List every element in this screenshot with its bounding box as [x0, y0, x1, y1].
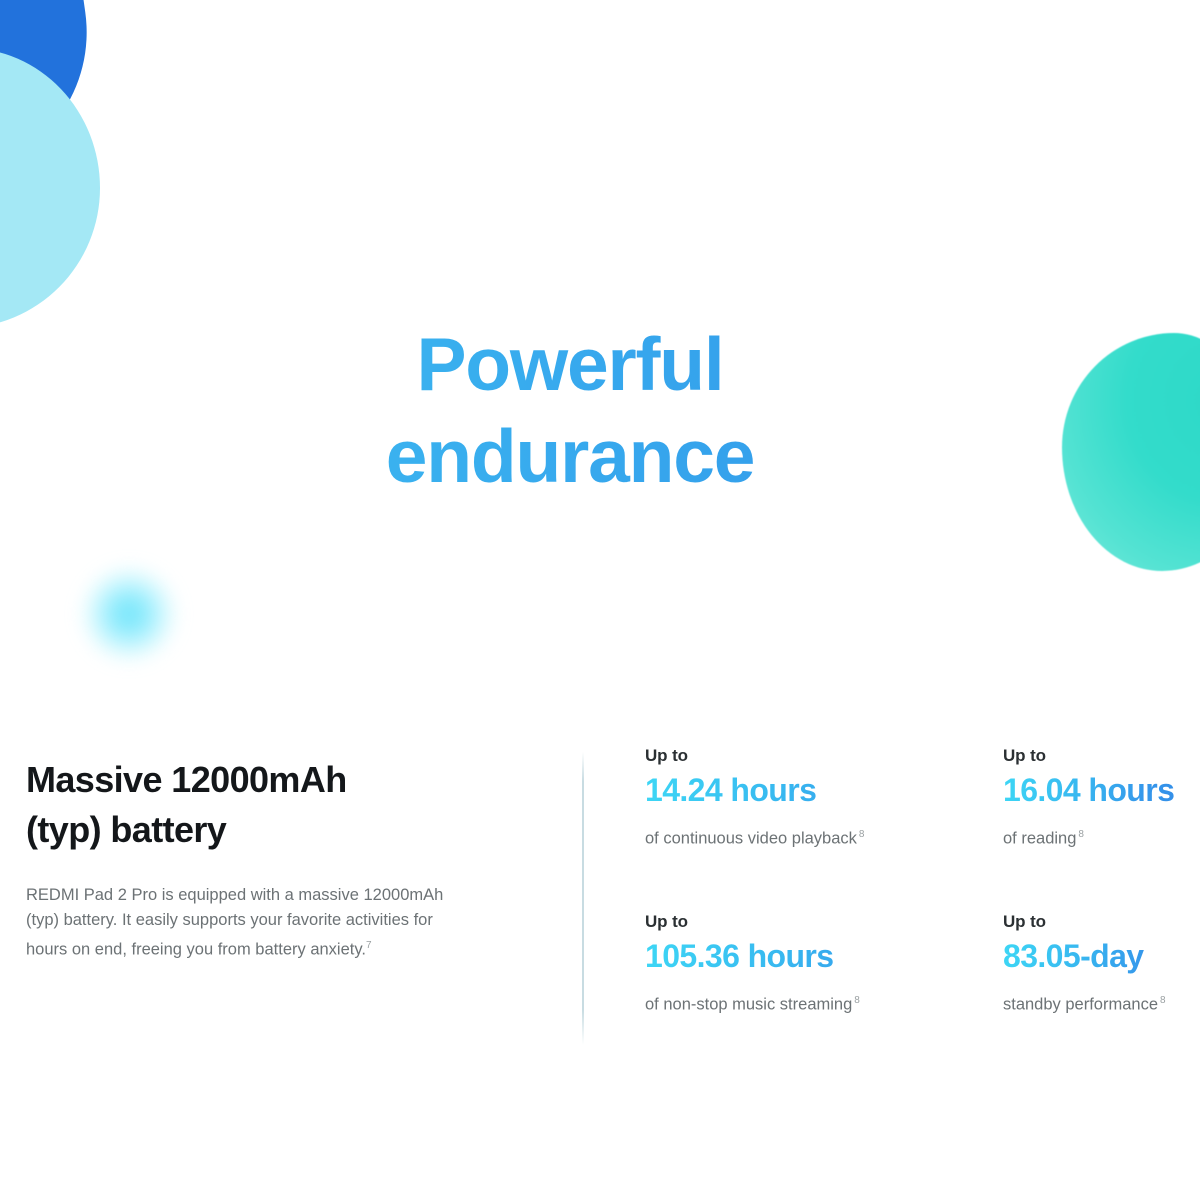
feature-body-text: REDMI Pad 2 Pro is equipped with a massi… — [26, 883, 476, 963]
content-area: Massive 12000mAh (typ) battery REDMI Pad… — [0, 745, 1200, 1065]
stat-uplabel: Up to — [645, 911, 1003, 933]
feature-body-footnote-marker: 7 — [366, 940, 372, 951]
stat-value: 83.05-day — [1003, 936, 1200, 977]
vertical-divider — [582, 752, 584, 1045]
stat-value: 14.24 hours — [645, 770, 1003, 811]
hero-title: Powerful endurance — [0, 318, 1140, 502]
stat-card-standby: Up to 83.05-day standby performance8 — [1003, 911, 1200, 1016]
stat-uplabel: Up to — [645, 745, 1003, 767]
stat-description: of reading8 — [1003, 824, 1200, 850]
hero-title-line-2: endurance — [0, 410, 1140, 502]
stat-uplabel: Up to — [1003, 911, 1200, 933]
feature-headline-line-2: (typ) battery — [26, 809, 226, 850]
blue-wedge-shape — [0, 0, 105, 187]
cyan-glow-spot — [83, 568, 175, 660]
stat-card-music-streaming: Up to 105.36 hours of non-stop music str… — [645, 911, 1003, 1016]
stat-description-text: of continuous video playback — [645, 830, 857, 848]
stat-footnote-marker: 8 — [854, 995, 860, 1006]
stat-card-reading: Up to 16.04 hours of reading8 — [1003, 745, 1200, 911]
feature-headline: Massive 12000mAh (typ) battery — [26, 755, 496, 855]
stat-description-text: standby performance — [1003, 996, 1158, 1014]
stat-description: of non-stop music streaming8 — [645, 990, 1003, 1016]
stat-card-video-playback: Up to 14.24 hours of continuous video pl… — [645, 745, 1003, 911]
feature-body-copy: REDMI Pad 2 Pro is equipped with a massi… — [26, 886, 443, 959]
stat-description: standby performance8 — [1003, 990, 1200, 1016]
stat-footnote-marker: 8 — [859, 829, 865, 840]
hero-title-line-1: Powerful — [0, 318, 1140, 410]
stat-description: of continuous video playback8 — [645, 824, 1003, 850]
stat-value: 105.36 hours — [645, 936, 1003, 977]
stat-uplabel: Up to — [1003, 745, 1200, 767]
stat-footnote-marker: 8 — [1160, 995, 1166, 1006]
feature-description-column: Massive 12000mAh (typ) battery REDMI Pad… — [26, 755, 496, 963]
stat-description-text: of reading — [1003, 830, 1076, 848]
stats-grid: Up to 14.24 hours of continuous video pl… — [645, 745, 1200, 1016]
feature-headline-line-1: Massive 12000mAh — [26, 759, 347, 800]
stat-footnote-marker: 8 — [1078, 829, 1084, 840]
stat-description-text: of non-stop music streaming — [645, 996, 852, 1014]
stat-value: 16.04 hours — [1003, 770, 1200, 811]
marketing-slide: Powerful endurance Massive 12000mAh (typ… — [0, 0, 1200, 1200]
cyan-blob-shape — [0, 48, 100, 328]
